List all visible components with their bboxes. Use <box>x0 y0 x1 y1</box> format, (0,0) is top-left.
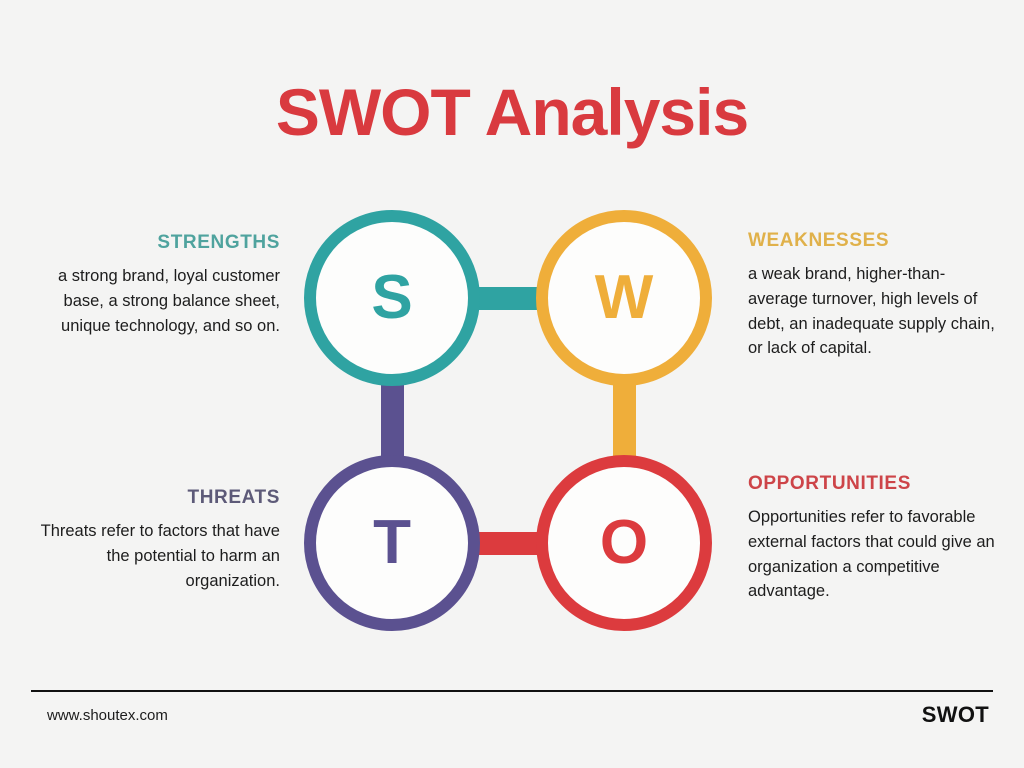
quadrant-opportunities-body: Opportunities refer to favorable externa… <box>748 505 998 604</box>
quadrant-strengths: STRENGTHS a strong brand, loyal customer… <box>40 232 280 338</box>
footer-divider <box>31 690 993 692</box>
quadrant-strengths-body: a strong brand, loyal customer base, a s… <box>40 264 280 338</box>
node-letter-opportunities: O <box>536 455 712 631</box>
node-letter-threats: T <box>304 455 480 631</box>
swot-diagram <box>0 0 1024 768</box>
footer-url[interactable]: www.shoutex.com <box>47 707 168 724</box>
swot-diagram-svg <box>0 0 1024 768</box>
quadrant-weaknesses-heading: WEAKNESSES <box>748 230 998 252</box>
quadrant-threats-body: Threats refer to factors that have the p… <box>40 519 280 593</box>
quadrant-opportunities-heading: OPPORTUNITIES <box>748 473 998 495</box>
footer-brand: SWOT <box>922 702 989 728</box>
node-letter-weaknesses: W <box>536 210 712 386</box>
quadrant-threats-heading: THREATS <box>40 487 280 509</box>
quadrant-weaknesses-body: a weak brand, higher-than-average turnov… <box>748 262 998 361</box>
quadrant-threats: THREATS Threats refer to factors that ha… <box>40 487 280 593</box>
node-letter-strengths: S <box>304 210 480 386</box>
quadrant-opportunities: OPPORTUNITIES Opportunities refer to fav… <box>748 473 998 604</box>
quadrant-weaknesses: WEAKNESSES a weak brand, higher-than-ave… <box>748 230 998 361</box>
quadrant-strengths-heading: STRENGTHS <box>40 232 280 254</box>
